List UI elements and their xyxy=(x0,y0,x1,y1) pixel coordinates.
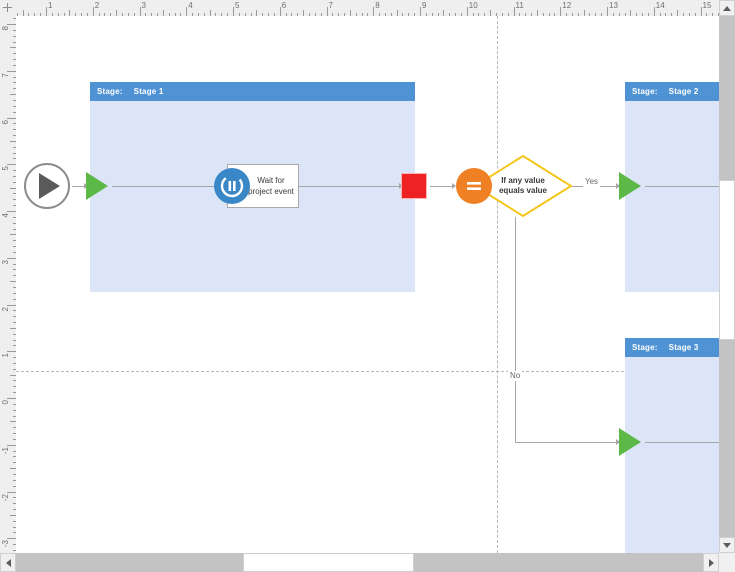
stop-square-icon[interactable] xyxy=(401,173,427,199)
green-arrow-shape-2[interactable] xyxy=(619,172,641,200)
ruler-label-v: -1 xyxy=(1,447,10,454)
ruler-label-h: 8 xyxy=(375,1,379,10)
stage-label-3: Stage: xyxy=(632,343,658,352)
connector-arrow1-to-wait[interactable] xyxy=(112,186,222,187)
ruler-label-h: 6 xyxy=(282,1,286,10)
ruler-label-v: 4 xyxy=(1,213,10,217)
connector-into-stage3[interactable] xyxy=(645,442,719,443)
stage-header-1: Stage: Stage 1 xyxy=(90,82,415,101)
ruler-label-v: 8 xyxy=(1,26,10,30)
start-node[interactable] xyxy=(24,163,70,209)
ruler-label-h: 2 xyxy=(95,1,99,10)
scroll-down-button[interactable] xyxy=(719,537,735,553)
ruler-label-v: 2 xyxy=(1,307,10,311)
stage-name-2: Stage 2 xyxy=(669,87,699,96)
connector-wait-to-stop[interactable] xyxy=(299,186,403,187)
wait-task-node[interactable]: Wait forproject event xyxy=(227,164,299,208)
ruler-label-h: 10 xyxy=(469,1,478,10)
ruler-label-v: 0 xyxy=(1,400,10,404)
connector-into-stage2[interactable] xyxy=(645,186,719,187)
play-icon xyxy=(39,173,60,199)
stage-name-1: Stage 1 xyxy=(134,87,164,96)
ruler-label-h: 1 xyxy=(48,1,52,10)
connector-no-vertical[interactable] xyxy=(515,217,516,442)
ruler-label-v: 1 xyxy=(1,353,10,357)
connector-label-yes: Yes xyxy=(583,177,600,187)
connector-label-no: No xyxy=(508,371,522,381)
horizontal-scroll-thumb[interactable] xyxy=(243,553,414,572)
ruler-label-h: 11 xyxy=(516,1,524,10)
stage-label-2: Stage: xyxy=(632,87,658,96)
ruler-label-v: -2 xyxy=(1,494,10,501)
ruler-origin-icon xyxy=(3,3,12,12)
green-arrow-shape-1[interactable] xyxy=(86,172,108,200)
ruler-label-h: 15 xyxy=(703,1,712,10)
horizontal-scrollbar[interactable] xyxy=(0,553,719,572)
scroll-right-button[interactable] xyxy=(703,553,719,572)
ruler-label-v: -3 xyxy=(1,540,10,547)
page-guide-horizontal xyxy=(16,371,719,372)
ruler-corner[interactable] xyxy=(0,0,17,17)
horizontal-ruler[interactable]: 123456789101112131415 xyxy=(16,0,719,17)
decision-line2: equals value xyxy=(499,186,547,196)
scroll-left-button[interactable] xyxy=(0,553,16,572)
chevron-left-icon xyxy=(6,559,11,567)
chevron-up-icon xyxy=(723,6,731,11)
ruler-label-h: 12 xyxy=(562,1,571,10)
drawing-canvas[interactable]: Stage: Stage 1 Stage: Stage 2 Stage: Sta… xyxy=(16,16,719,553)
wait-task-line1: Wait for xyxy=(248,175,294,186)
ruler-label-h: 4 xyxy=(188,1,192,10)
stage-header-3: Stage: Stage 3 xyxy=(625,338,719,357)
stage-name-3: Stage 3 xyxy=(669,343,699,352)
green-arrow-shape-3[interactable] xyxy=(619,428,641,456)
wait-task-line2: project event xyxy=(248,186,294,197)
ruler-label-h: 5 xyxy=(235,1,239,10)
connector-no-horizontal[interactable] xyxy=(515,442,620,443)
stage-label-1: Stage: xyxy=(97,87,123,96)
chevron-down-icon xyxy=(723,543,731,548)
vertical-scroll-thumb[interactable] xyxy=(719,180,735,340)
ruler-label-h: 7 xyxy=(329,1,333,10)
decision-node[interactable]: If any valueequals value xyxy=(474,155,572,217)
ruler-label-v: 3 xyxy=(1,260,10,264)
vertical-ruler[interactable]: 876543210-1-2-3 xyxy=(0,16,17,553)
ruler-label-h: 13 xyxy=(609,1,618,10)
ruler-label-v: 7 xyxy=(1,73,10,77)
pause-clock-icon xyxy=(214,168,250,204)
scroll-up-button[interactable] xyxy=(719,0,735,16)
decision-line1: If any value xyxy=(499,176,547,186)
ruler-label-h: 9 xyxy=(422,1,426,10)
page-guide-vertical xyxy=(497,16,498,553)
visio-workflow-designer: 123456789101112131415 876543210-1-2-3 St… xyxy=(0,0,735,572)
ruler-tick xyxy=(701,7,702,16)
chevron-right-icon xyxy=(709,559,714,567)
equals-icon xyxy=(456,168,492,204)
ruler-label-h: 14 xyxy=(656,1,665,10)
ruler-label-h: 3 xyxy=(142,1,146,10)
vertical-scrollbar[interactable] xyxy=(719,0,735,553)
ruler-label-v: 6 xyxy=(1,120,10,124)
stage-header-2: Stage: Stage 2 xyxy=(625,82,719,101)
ruler-label-v: 5 xyxy=(1,166,10,170)
